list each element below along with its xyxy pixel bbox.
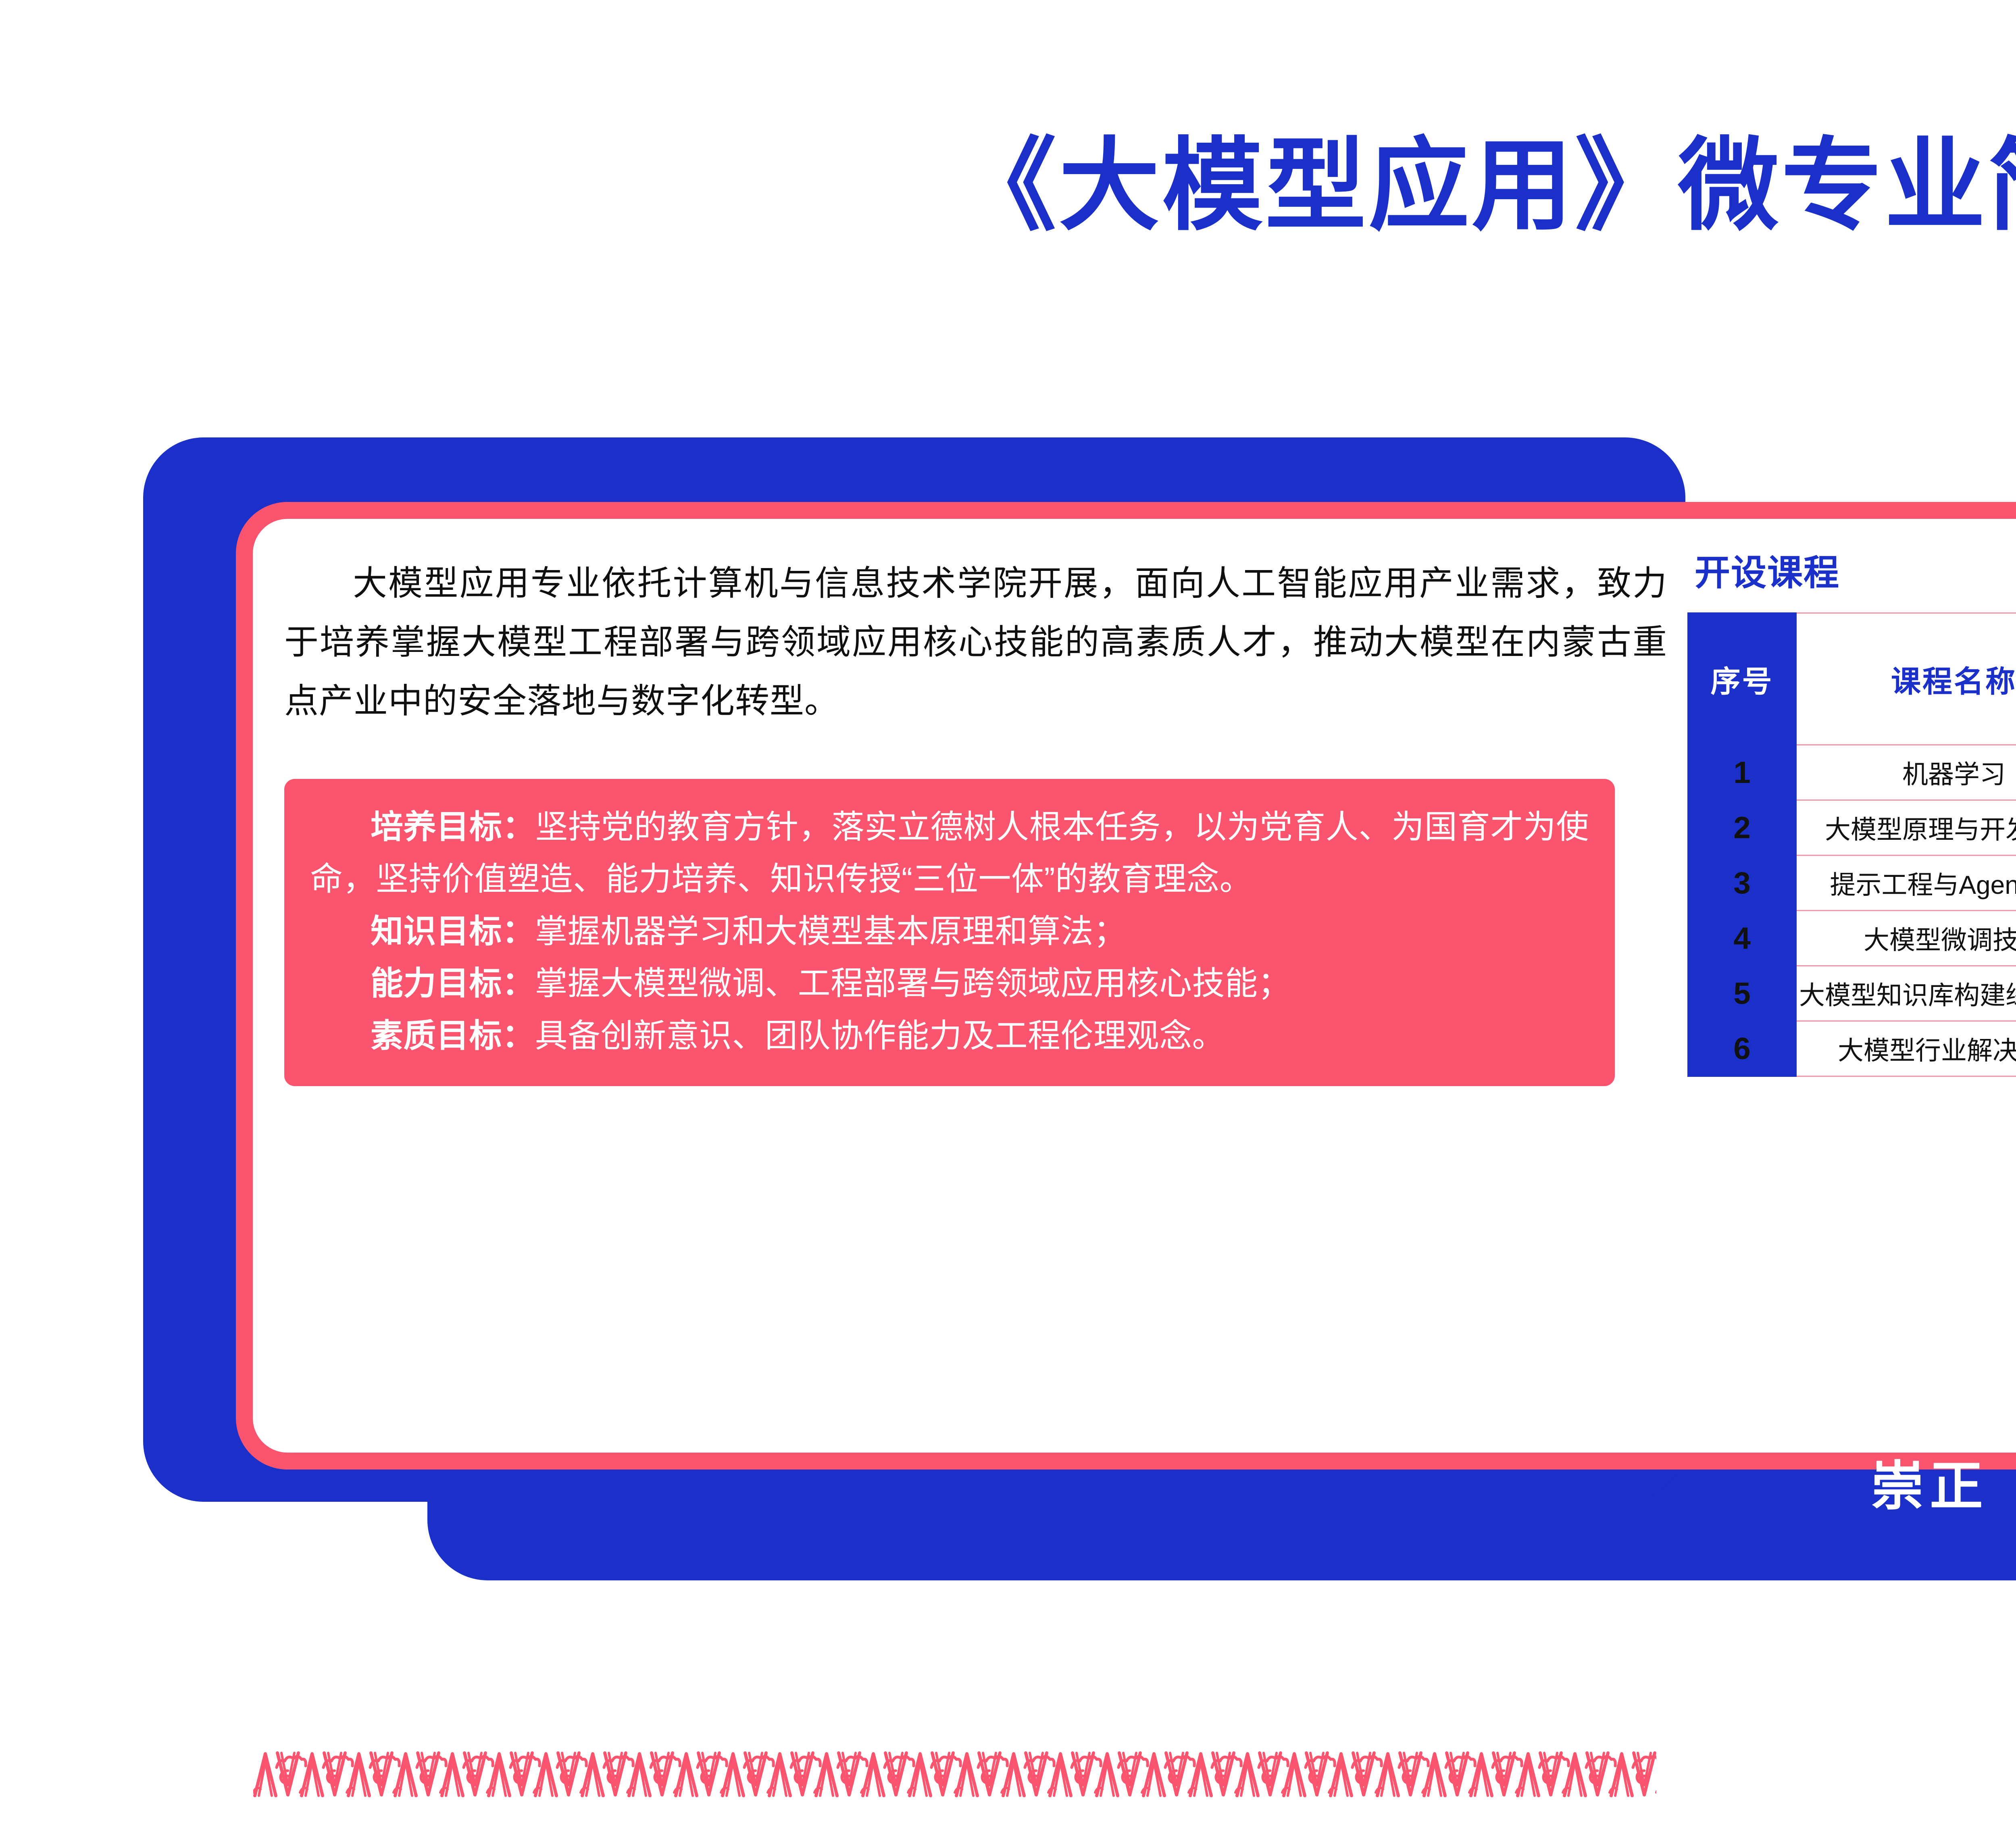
row-course-name: 提示工程与Agent开发 (1796, 856, 2016, 911)
table-row: 2大模型原理与开发工具1321616第1学期 (1688, 800, 2016, 856)
knowledge-goal-text: 掌握机器学习和大模型基本原理和算法； (535, 914, 1127, 950)
slogan-word: 崇正 (1871, 1443, 1989, 1520)
training-goal-main: 培养目标：坚持党的教育方针，落实立德树人根本任务，以为党育人、为国育才为使命，坚… (310, 801, 1589, 906)
row-index: 3 (1688, 856, 1796, 911)
ability-goal-label: 能力目标： (371, 966, 535, 1002)
row-course-name: 机器学习 (1796, 745, 2016, 800)
slogan: 崇正尚智务本传承 (1871, 1443, 2016, 1520)
page-title: 《大模型应用》微专业简介 (0, 133, 2016, 239)
header-index: 序号 (1688, 613, 1796, 745)
left-column: 大模型应用专业依托计算机与信息技术学院开展，面向人工智能应用产业需求，致力于培养… (284, 554, 1667, 1086)
row-index: 6 (1688, 1021, 1796, 1076)
table-row: 6大模型行业解决方案132824第3学期 (1688, 1021, 2016, 1076)
row-index: 2 (1688, 800, 1796, 856)
row-index: 5 (1688, 966, 1796, 1021)
row-course-name: 大模型原理与开发工具 (1796, 800, 2016, 856)
row-index: 1 (1688, 745, 1796, 800)
header-name: 课程名称 (1796, 613, 2016, 745)
table-row: 1机器学习1321616第1学期 (1688, 745, 2016, 800)
quality-goal-text: 具备创新意识、团队协作能力及工程伦理观念。 (535, 1018, 1225, 1054)
course-table-head: 序号 课程名称 学分 学 时 开设 学期 共计 讲授 实验 实践 (1688, 613, 2016, 745)
training-goals-box: 培养目标：坚持党的教育方针，落实立德树人根本任务，以为党育人、为国育才为使命，坚… (284, 779, 1615, 1086)
quality-goal-label: 素质目标： (371, 1018, 535, 1054)
row-course-name: 大模型行业解决方案 (1796, 1021, 2016, 1076)
table-row: 4大模型微调技术132824第2学期 (1688, 911, 2016, 966)
row-course-name: 大模型知识库构建综合实训 (1796, 966, 2016, 1021)
ability-goal-text: 掌握大模型微调、工程部署与跨领域应用核心技能； (535, 966, 1291, 1002)
training-goal-label: 培养目标： (371, 809, 535, 845)
table-row: 5大模型知识库构建综合实训132824第3学期 (1688, 966, 2016, 1021)
table-header-row-1: 序号 课程名称 学分 学 时 开设 学期 (1688, 613, 2016, 658)
row-index: 4 (1688, 911, 1796, 966)
course-table: 序号 课程名称 学分 学 时 开设 学期 共计 讲授 实验 实践 (1687, 612, 2016, 1077)
knowledge-goal-label: 知识目标： (371, 914, 535, 950)
card-content: 大模型应用专业依托计算机与信息技术学院开展，面向人工智能应用产业需求，致力于培养… (236, 502, 2016, 1470)
courses-heading: 开设课程 (1695, 544, 2016, 595)
knowledge-goal: 知识目标：掌握机器学习和大模型基本原理和算法； (310, 906, 1589, 958)
table-row: 3提示工程与Agent开发1321616第2学期 (1688, 856, 2016, 911)
ability-goal: 能力目标：掌握大模型微调、工程部署与跨领域应用核心技能； (310, 958, 1589, 1010)
row-course-name: 大模型微调技术 (1796, 911, 2016, 966)
intro-paragraph: 大模型应用专业依托计算机与信息技术学院开展，面向人工智能应用产业需求，致力于培养… (284, 554, 1667, 731)
right-column: 开设课程 序号 课程名称 学分 学 时 开设 学期 共计 讲授 (1687, 544, 2016, 1077)
mongolian-pattern-border-icon (253, 1750, 1656, 1797)
course-table-body: 1机器学习1321616第1学期2大模型原理与开发工具1321616第1学期3提… (1688, 745, 2016, 1076)
quality-goal: 素质目标：具备创新意识、团队协作能力及工程伦理观念。 (310, 1010, 1589, 1063)
